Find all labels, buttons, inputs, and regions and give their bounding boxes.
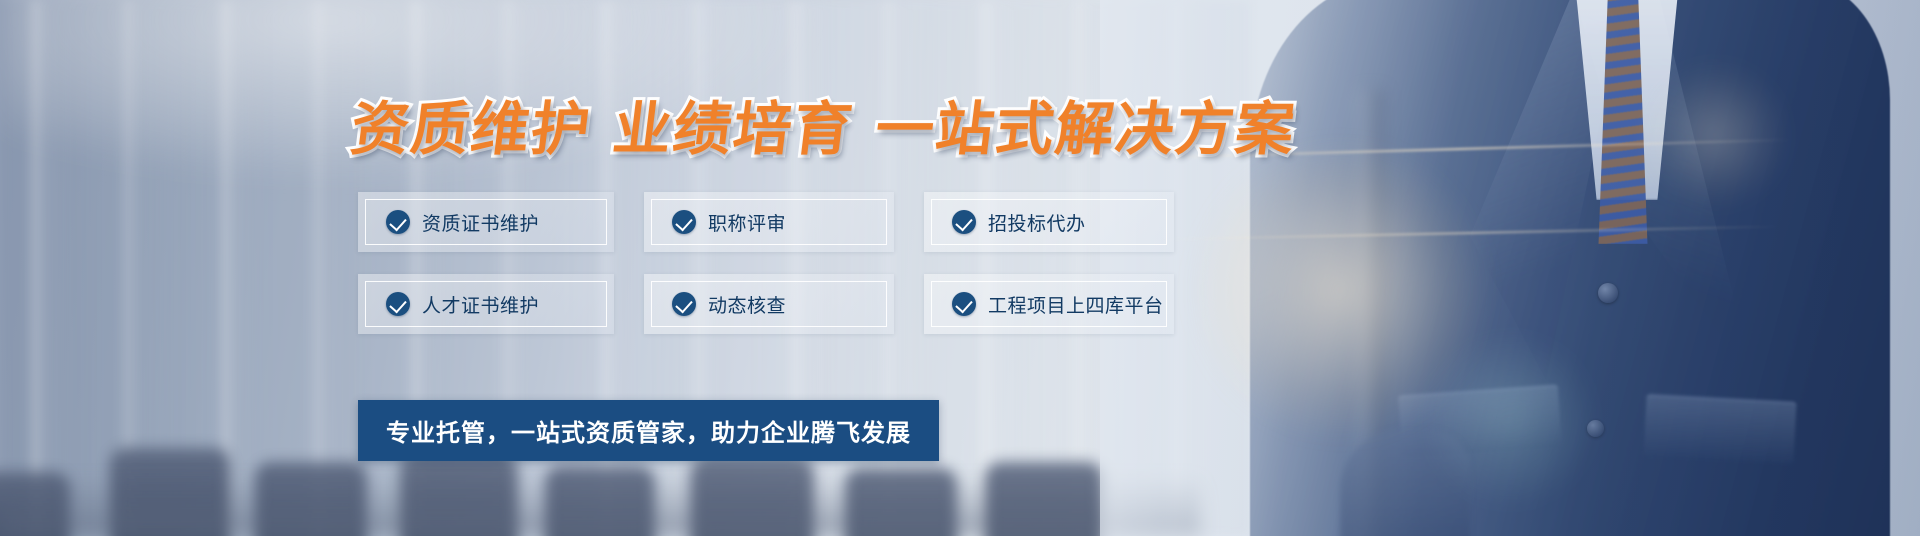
check-circle-icon <box>672 292 696 316</box>
promo-banner: 资质维护 业绩培育 一站式解决方案 资质证书维护 职称评审 <box>0 0 1920 536</box>
feature-label: 工程项目上四库平台 <box>988 291 1164 318</box>
feature-label: 动态核查 <box>708 291 786 318</box>
tagline-text: 专业托管，一站式资质管家，助力企业腾飞发展 <box>386 413 911 448</box>
feature-box-title-review[interactable]: 职称评审 <box>644 192 894 252</box>
feature-box-qualification-certificate[interactable]: 资质证书维护 <box>358 192 614 252</box>
feature-box-four-database-platform[interactable]: 工程项目上四库平台 <box>924 274 1174 334</box>
check-circle-icon <box>952 210 976 234</box>
check-circle-icon <box>386 210 410 234</box>
feature-label: 人才证书维护 <box>422 291 539 318</box>
feature-row-1: 资质证书维护 职称评审 招投标代办 <box>358 192 1174 252</box>
feature-label: 资质证书维护 <box>422 209 539 236</box>
feature-label: 职称评审 <box>708 209 786 236</box>
feature-row-2: 人才证书维护 动态核查 工程项目上四库平台 <box>358 274 1174 334</box>
feature-box-talent-certificate[interactable]: 人才证书维护 <box>358 274 614 334</box>
feature-box-dynamic-verification[interactable]: 动态核查 <box>644 274 894 334</box>
check-circle-icon <box>386 292 410 316</box>
banner-headline: 资质维护 业绩培育 一站式解决方案 <box>347 82 1302 166</box>
banner-content: 资质维护 业绩培育 一站式解决方案 资质证书维护 职称评审 <box>0 0 1920 536</box>
check-circle-icon <box>672 210 696 234</box>
feature-box-bidding-agency[interactable]: 招投标代办 <box>924 192 1174 252</box>
check-circle-icon <box>952 292 976 316</box>
feature-label: 招投标代办 <box>988 209 1086 236</box>
tagline-bar: 专业托管，一站式资质管家，助力企业腾飞发展 <box>358 400 939 461</box>
feature-box-grid: 资质证书维护 职称评审 招投标代办 <box>358 192 1174 356</box>
